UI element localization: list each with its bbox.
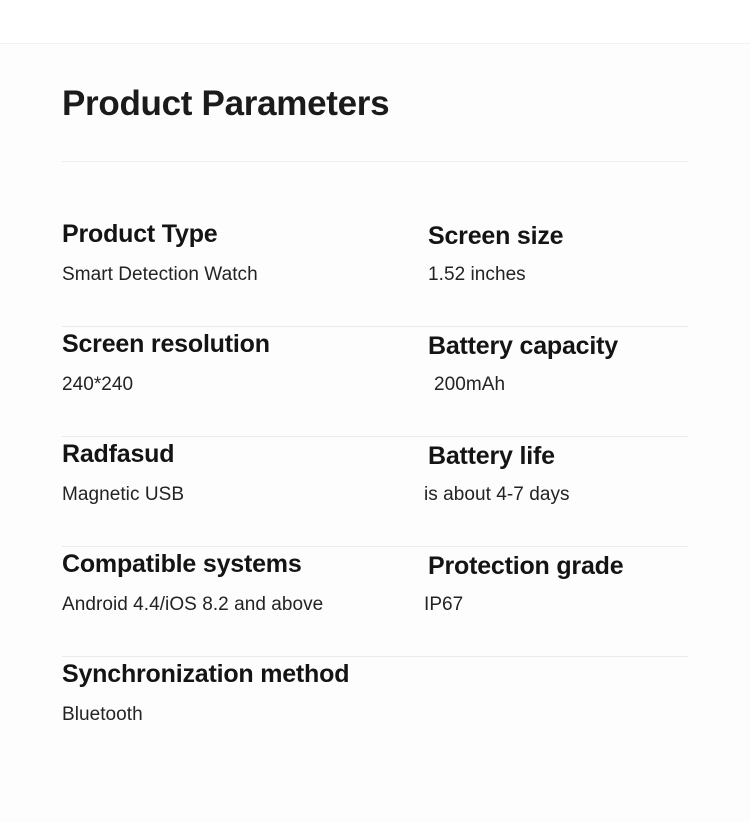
spec-table: Product Type Smart Detection Watch Scree… (0, 217, 750, 765)
spec-label: Battery capacity (428, 327, 728, 363)
product-parameters-page: Product Parameters Product Type Smart De… (0, 0, 750, 822)
page-title: Product Parameters (62, 82, 389, 126)
spec-row: Product Type Smart Detection Watch Scree… (0, 217, 750, 327)
spec-label: Product Type (62, 217, 422, 251)
spec-value: Bluetooth (62, 691, 422, 728)
spec-label: Synchronization method (62, 657, 422, 691)
spec-value: 1.52 inches (428, 253, 728, 288)
spec-cell-battery-capacity: Battery capacity 200mAh (428, 327, 728, 398)
spec-label: Compatible systems (62, 547, 422, 581)
spec-value: is about 4-7 days (424, 473, 728, 508)
spec-label: Screen size (428, 217, 728, 253)
spec-cell-product-type: Product Type Smart Detection Watch (62, 217, 422, 288)
spec-row: Compatible systems Android 4.4/iOS 8.2 a… (0, 547, 750, 657)
spec-cell-screen-size: Screen size 1.52 inches (428, 217, 728, 288)
spec-value: Magnetic USB (62, 471, 422, 508)
title-divider (62, 161, 688, 162)
spec-row: Synchronization method Bluetooth (0, 657, 750, 765)
spec-label: Protection grade (428, 547, 728, 583)
spec-value: Android 4.4/iOS 8.2 and above (62, 581, 422, 618)
spec-row: Radfasud Magnetic USB Battery life is ab… (0, 437, 750, 547)
spec-label: Battery life (428, 437, 728, 473)
spec-value: 200mAh (428, 363, 728, 398)
spec-label: Radfasud (62, 437, 422, 471)
spec-row: Screen resolution 240*240 Battery capaci… (0, 327, 750, 437)
spec-label: Screen resolution (62, 327, 422, 361)
spec-cell-compatible-systems: Compatible systems Android 4.4/iOS 8.2 a… (62, 547, 422, 618)
spec-cell-radfasud: Radfasud Magnetic USB (62, 437, 422, 508)
spec-cell-protection-grade: Protection grade IP67 (428, 547, 728, 618)
spec-value: IP67 (424, 583, 728, 618)
spec-cell-screen-resolution: Screen resolution 240*240 (62, 327, 422, 398)
spec-cell-synchronization-method: Synchronization method Bluetooth (62, 657, 422, 728)
spec-value: 240*240 (62, 361, 422, 398)
spec-cell-battery-life: Battery life is about 4-7 days (428, 437, 728, 508)
spec-value: Smart Detection Watch (62, 251, 422, 288)
